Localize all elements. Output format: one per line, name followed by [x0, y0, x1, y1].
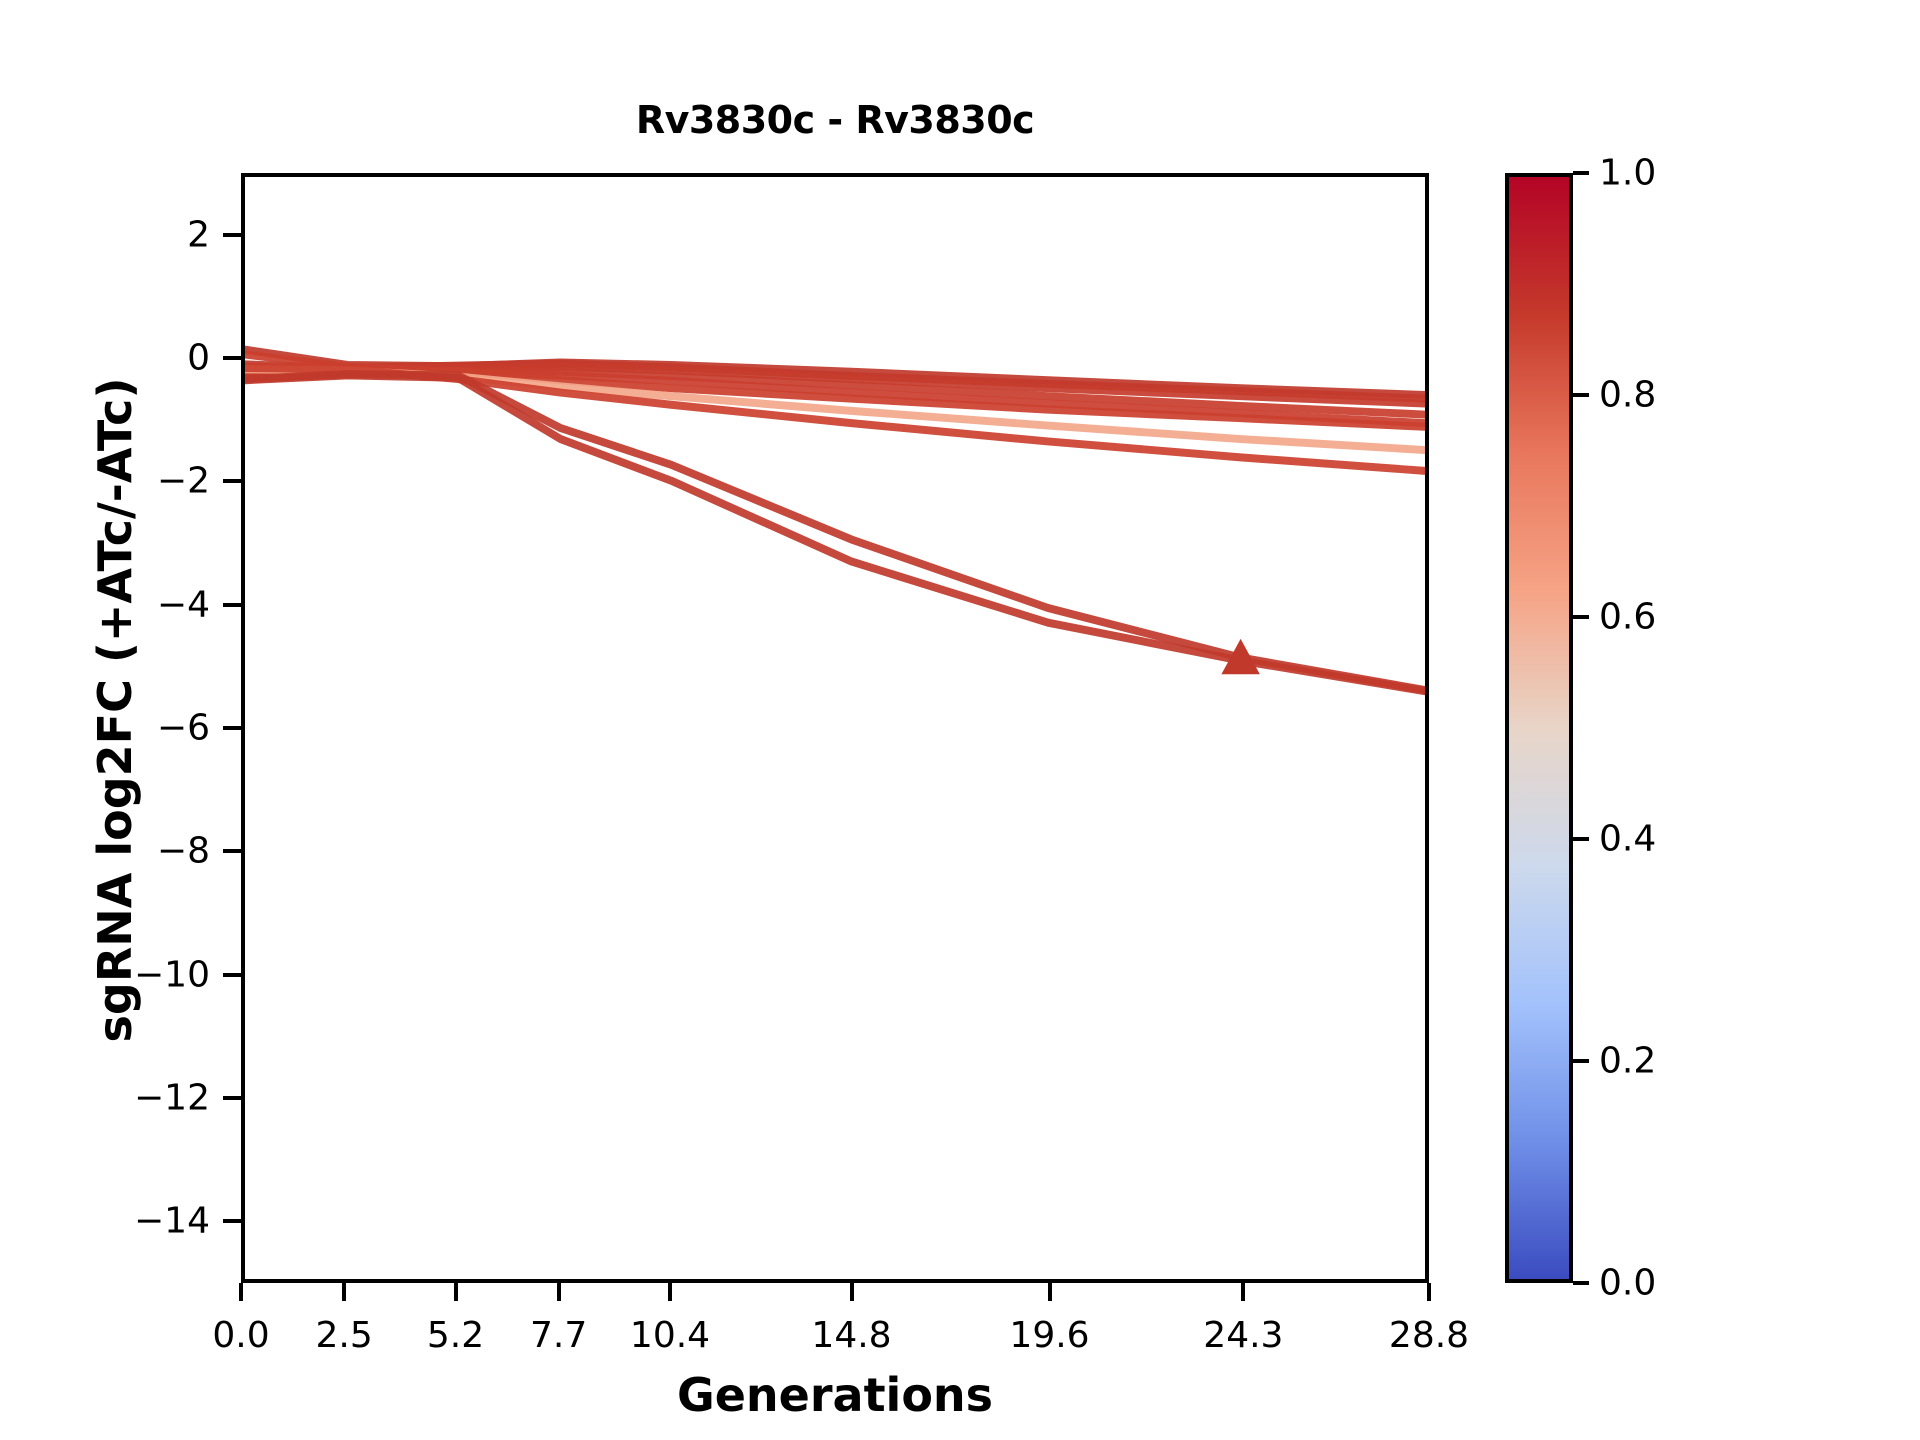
y-axis-tick-mark: [223, 726, 241, 730]
y-axis-tick-mark: [223, 1096, 241, 1100]
x-axis-tick-mark: [1427, 1283, 1431, 1301]
colorbar-tick-mark: [1573, 1059, 1589, 1063]
x-axis-tick-label: 10.4: [630, 1315, 710, 1356]
y-axis-tick-label: −10: [134, 954, 210, 995]
y-axis-tick-mark: [223, 479, 241, 483]
x-axis-tick-label: 7.7: [530, 1315, 587, 1356]
y-axis-label: sgRNA log2FC (+ATc/-ATc): [88, 155, 142, 1265]
y-axis-tick-label: −8: [157, 831, 210, 872]
x-axis-tick-mark: [454, 1283, 458, 1301]
colorbar-gradient: [1509, 177, 1569, 1279]
x-axis-tick-label: 14.8: [811, 1315, 891, 1356]
x-axis-tick-mark: [668, 1283, 672, 1301]
x-axis-tick-label: 24.3: [1203, 1315, 1283, 1356]
y-axis-tick-mark: [223, 1219, 241, 1223]
x-axis-tick-mark: [557, 1283, 561, 1301]
y-axis-tick-label: −14: [134, 1201, 210, 1242]
y-axis-tick-label: 2: [187, 214, 210, 255]
plot-area: [241, 173, 1429, 1283]
x-axis-tick-label: 28.8: [1389, 1315, 1469, 1356]
colorbar-tick-label: 0.0: [1599, 1263, 1656, 1304]
colorbar-tick-mark: [1573, 1281, 1589, 1285]
colorbar-tick-label: 1.0: [1599, 153, 1656, 194]
x-axis-tick-label: 5.2: [427, 1315, 484, 1356]
colorbar-tick-mark: [1573, 615, 1589, 619]
colorbar-tick-mark: [1573, 837, 1589, 841]
x-axis-tick-mark: [239, 1283, 243, 1301]
y-axis-tick-mark: [223, 356, 241, 360]
colorbar-tick-label: 0.8: [1599, 375, 1656, 416]
y-axis-tick-label: −12: [134, 1078, 210, 1119]
series-lines-svg: [245, 177, 1425, 1279]
x-axis-tick-label: 0.0: [212, 1315, 269, 1356]
y-axis-tick-mark: [223, 603, 241, 607]
colorbar-tick-label: 0.6: [1599, 597, 1656, 638]
colorbar-tick-label: 0.2: [1599, 1041, 1656, 1082]
x-axis-tick-label: 2.5: [315, 1315, 372, 1356]
figure-canvas: Rv3830c - Rv3830c 20−2−4−6−8−10−12−14 0.…: [0, 0, 1920, 1440]
chart-title: Rv3830c - Rv3830c: [241, 98, 1429, 142]
x-axis-tick-label: 19.6: [1009, 1315, 1089, 1356]
y-axis-tick-mark: [223, 973, 241, 977]
x-axis-label: Generations: [241, 1368, 1429, 1422]
y-axis-tick-label: −6: [157, 708, 210, 749]
colorbar-tick-mark: [1573, 393, 1589, 397]
x-axis-tick-mark: [342, 1283, 346, 1301]
colorbar: [1505, 173, 1573, 1283]
colorbar-tick-label: 0.4: [1599, 819, 1656, 860]
y-axis-tick-mark: [223, 233, 241, 237]
x-axis-tick-mark: [1048, 1283, 1052, 1301]
y-axis-tick-label: 0: [187, 338, 210, 379]
x-axis-tick-mark: [1241, 1283, 1245, 1301]
colorbar-tick-mark: [1573, 171, 1589, 175]
y-axis-tick-label: −2: [157, 461, 210, 502]
y-axis-tick-label: −4: [157, 584, 210, 625]
x-axis-tick-mark: [850, 1283, 854, 1301]
y-axis-tick-mark: [223, 849, 241, 853]
